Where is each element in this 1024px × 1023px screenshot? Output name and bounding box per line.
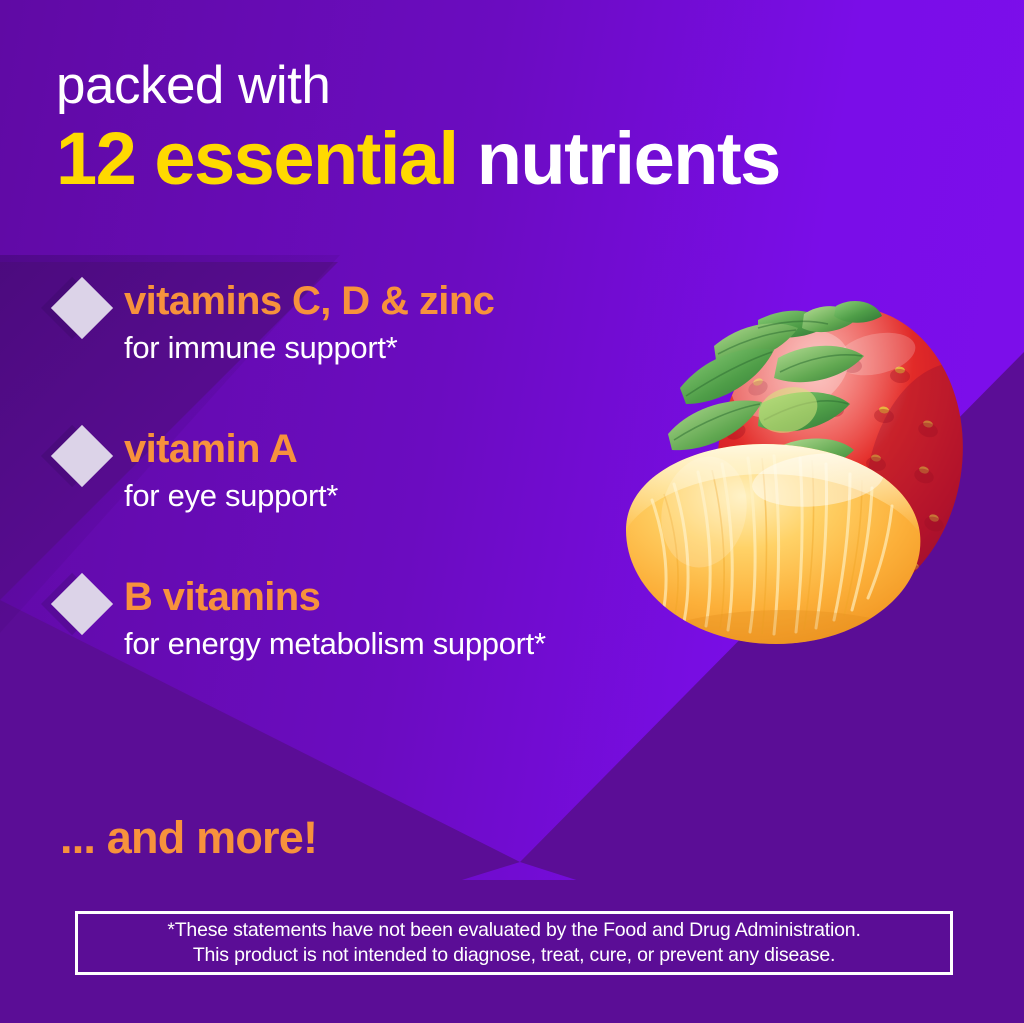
headline-count: 12 essential [56, 117, 458, 200]
headline-eyebrow: packed with [56, 58, 986, 114]
diamond-bullet-icon [51, 425, 113, 487]
diamond-bullet-icon [51, 573, 113, 635]
disclaimer-line-2: This product is not intended to diagnose… [193, 943, 835, 968]
list-item: B vitamins for energy metabolism support… [56, 572, 756, 664]
disclaimer-line-1: *These statements have not been evaluate… [167, 918, 860, 943]
benefit-subtitle: for energy metabolism support* [124, 624, 756, 664]
disclaimer-box: *These statements have not been evaluate… [75, 911, 953, 975]
benefit-title: vitamin A [124, 424, 756, 474]
benefits-list: vitamins C, D & zinc for immune support*… [56, 276, 756, 664]
benefit-title: B vitamins [124, 572, 756, 622]
diamond-bullet-icon [51, 277, 113, 339]
headline: packed with 12 essential nutrients [56, 58, 986, 200]
list-item: vitamin A for eye support* [56, 424, 756, 516]
headline-main: 12 essential nutrients [56, 118, 986, 200]
benefit-subtitle: for immune support* [124, 328, 756, 368]
benefit-title: vitamins C, D & zinc [124, 276, 756, 326]
list-item: vitamins C, D & zinc for immune support* [56, 276, 756, 368]
benefit-subtitle: for eye support* [124, 476, 756, 516]
headline-subject: nutrients [477, 117, 780, 200]
closing-text: ... and more! [60, 812, 317, 864]
promo-canvas: packed with 12 essential nutrients vitam… [0, 0, 1024, 1023]
